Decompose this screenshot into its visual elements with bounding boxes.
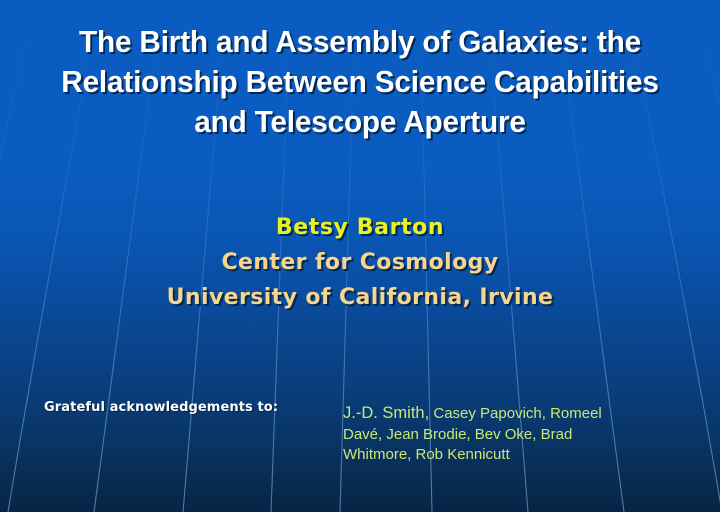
author-name: Betsy Barton <box>0 211 720 245</box>
author-affiliation-line-2: University of California, Irvine <box>0 280 720 315</box>
slide-title: The Birth and Assembly of Galaxies: the … <box>0 22 720 142</box>
acknowledgements-names: J.-D. Smith, Casey Papovich, Romeel Davé… <box>343 403 643 466</box>
title-line-3: and Telescope Aperture <box>14 102 705 142</box>
title-line-1: The Birth and Assembly of Galaxies: the <box>14 22 705 62</box>
title-line-2: Relationship Between Science Capabilitie… <box>14 62 705 102</box>
author-affiliation-line-1: Center for Cosmology <box>0 245 720 280</box>
author-block: Betsy Barton Center for Cosmology Univer… <box>0 211 720 315</box>
presentation-slide: The Birth and Assembly of Galaxies: the … <box>0 0 720 512</box>
acknowledgements-label: Grateful acknowledgements to: <box>44 400 278 415</box>
acknowledgement-lead-name: J.-D. Smith, <box>343 404 429 422</box>
